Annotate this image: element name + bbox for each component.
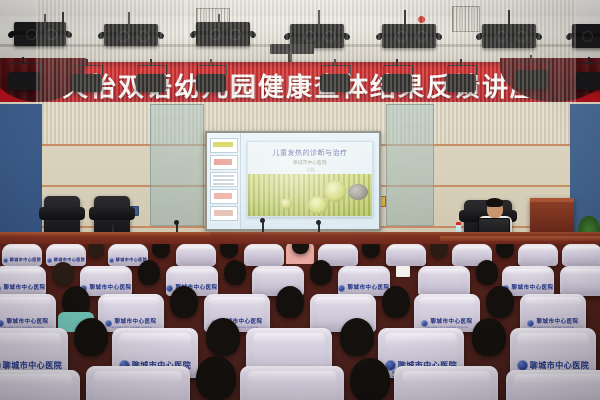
audience-head (382, 286, 410, 318)
slide-presenter: 儿科 (248, 167, 372, 173)
hospital-logo-icon (0, 285, 1, 292)
slide-gray-graphic (348, 184, 368, 200)
seat-logo-text: 聊城市中心医院 (89, 286, 131, 292)
wall-panel-center (186, 0, 386, 146)
hospital-logo-icon (338, 285, 345, 292)
seat[interactable] (562, 244, 600, 266)
seat[interactable] (506, 370, 600, 400)
seat[interactable]: 聊城市中心医院 LIAOCHENG CITY CENTRAL HOSPITAL (0, 294, 56, 332)
audience-head (486, 286, 514, 318)
seat[interactable] (560, 266, 600, 296)
seat-logo-text: 聊城市中心医院 (3, 286, 45, 292)
seat[interactable]: 聊城市中心医院 (2, 244, 42, 266)
seat[interactable] (176, 244, 216, 266)
audience-head (170, 286, 198, 318)
audience-head (310, 260, 332, 285)
seat[interactable] (0, 370, 80, 400)
seat[interactable] (518, 244, 558, 266)
seat-logo-text: 聊城市中心医院 (347, 286, 389, 292)
seat[interactable]: 聊城市中心医院 LIAOCHENG CITY CENTRAL HOSPITAL (414, 294, 480, 332)
seat-logo-text: 聊城市中心医院 (511, 286, 553, 292)
seat[interactable]: 聊城市中心医院 LIAOCHENG CITY CENTRAL HOSPITAL (520, 294, 586, 332)
seat-logo-text: 聊城市中心医院 (114, 320, 156, 326)
audience-head (472, 318, 506, 356)
slide-subtitle: 聊城市中心医院 (248, 160, 372, 166)
audience-head (340, 318, 374, 356)
slide-thumbnail-rail[interactable] (207, 133, 241, 229)
audience-area: 聊城市中心医院 聊城市中心医院 聊城市中心医院 聊城市中心医院 聊城市中心医院 (0, 244, 600, 400)
slide-kiwi-graphic (308, 196, 328, 214)
hospital-logo-icon (527, 320, 534, 327)
seat-logo-text: 聊城市中心医院 (430, 320, 472, 326)
slide-title: 儿童发热的诊断与治疗 (248, 148, 372, 158)
audience-head (350, 358, 390, 400)
seat[interactable] (86, 366, 190, 400)
slide-thumbnail[interactable] (210, 172, 238, 187)
audience-head (224, 260, 246, 285)
projection-screen: 儿童发热的诊断与治疗 聊城市中心医院 儿科 (207, 133, 379, 229)
audience-head (476, 260, 498, 285)
audience-head (138, 260, 160, 285)
audience-head (196, 356, 236, 400)
seat[interactable] (386, 244, 426, 266)
audience-head (74, 318, 108, 356)
stage-light-upper (572, 24, 600, 48)
seat[interactable] (418, 266, 470, 296)
audience-head (52, 262, 74, 286)
seat[interactable]: 聊城市中心医院 (338, 266, 390, 296)
seat-logo-text: 聊城市中心医院 (536, 320, 578, 326)
hospital-logo-icon (3, 258, 8, 263)
slide-thumbnail[interactable] (210, 189, 238, 204)
hospital-logo-icon (105, 320, 112, 327)
seat[interactable] (394, 366, 498, 400)
wall-blue-panel-left (0, 104, 42, 246)
seat[interactable] (244, 244, 284, 266)
auditorium-photo: 天怡双语幼儿园健康查体结果反馈讲座 (0, 0, 600, 400)
audience-head (276, 286, 304, 318)
hospital-logo-icon (0, 320, 4, 327)
seat-logo-text: 聊城市中心医院 (6, 320, 48, 326)
hospital-logo-icon (421, 320, 428, 327)
current-slide: 儿童发热的诊断与治疗 聊城市中心医院 儿科 (247, 141, 373, 217)
hospital-logo-icon (47, 258, 52, 263)
presenter-hair (486, 198, 503, 207)
stage-light-lower (576, 72, 600, 90)
head-table-top (440, 236, 600, 241)
head-table-top (0, 232, 210, 237)
seat[interactable]: 聊城市中心医院 LIAOCHENG CITY CENTRAL HOSPITAL (98, 294, 164, 332)
hospital-logo-icon (109, 258, 114, 263)
slide-kiwi-graphic (324, 180, 346, 202)
handout-paper (396, 266, 410, 277)
slide-thumbnail[interactable] (210, 138, 238, 153)
seat[interactable] (240, 366, 344, 400)
slide-kiwi-graphic (280, 198, 292, 209)
seat-logo-text: 聊城市中心医院 (530, 362, 590, 370)
seat[interactable]: 聊城市中心医院 (0, 266, 46, 296)
glass-door-left (150, 104, 204, 226)
slide-thumbnail[interactable] (210, 206, 238, 221)
seat[interactable]: 聊城市中心医院 (80, 266, 132, 296)
seat-logo-text: 聊城市中心医院 (10, 258, 42, 262)
projection-screen-frame: 儿童发热的诊断与治疗 聊城市中心医院 儿科 (205, 131, 381, 231)
slide-thumbnail[interactable] (210, 155, 238, 170)
audience-head (88, 244, 104, 258)
audience-head (206, 318, 240, 356)
glass-door-right (386, 104, 434, 226)
